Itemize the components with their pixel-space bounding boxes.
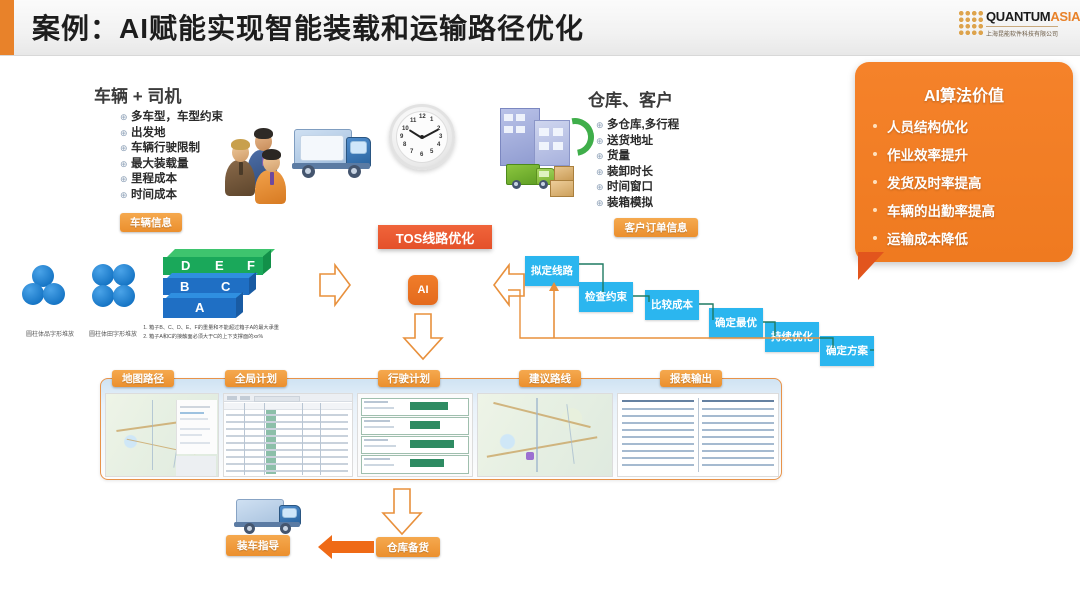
company-logo: QUANTUMASIA 上海昆能软件科技有限公司	[958, 8, 1068, 44]
vehicle-bullet-list: ⊕多车型，车型约束 ⊕出发地 ⊕车辆行驶限制 ⊕最大装载量 ⊕里程成本 ⊕时间成…	[120, 110, 223, 203]
stacking-note-1: 箱子A和C的接触面必须大于C的上下支撑面的xx%	[149, 334, 290, 341]
logo-wordmark: QUANTUMASIA	[986, 9, 1080, 24]
warehouse-illustration	[494, 100, 589, 220]
driver-avatar-group	[225, 120, 277, 192]
vehicle-bullet-5: ⊕时间成本	[120, 188, 223, 204]
header-accent-bar	[0, 0, 14, 55]
vehicle-info-tag[interactable]: 车辆信息	[120, 213, 182, 232]
ai-value-item-3: 车辆的出勤率提高	[873, 196, 1059, 224]
screenshot-suggested-route[interactable]	[477, 393, 613, 477]
screenshot-map-route[interactable]	[105, 393, 219, 477]
slide-header: 案例：AI赋能实现智能装载和运输路径优化 QUANTUMASIA 上海昆能软件科…	[0, 0, 1080, 56]
logo-accent-text: ASIA	[1050, 9, 1080, 24]
warehouse-bullet-list: ⊕多仓库,多行程 ⊕送货地址 ⊕货量 ⊕装卸时长 ⊕时间窗口 ⊕装箱模拟	[596, 118, 679, 211]
flow-connectors	[508, 250, 888, 370]
warehouse-bullet-4: ⊕时间窗口	[596, 180, 679, 196]
output-tab-0[interactable]: 地图路径	[112, 370, 174, 387]
ai-value-panel: AI算法价值 人员结构优化 作业效率提升 发货及时率提高 车辆的出勤率提高 运输…	[855, 62, 1073, 262]
page-title: 案例：AI赋能实现智能装载和运输路径优化	[32, 7, 584, 47]
logo-dot-pattern	[958, 10, 984, 36]
output-tab-3[interactable]: 建议路线	[519, 370, 581, 387]
output-tab-1[interactable]: 全局计划	[225, 370, 287, 387]
clock-icon: 12 1 2 3 4 5 6 7 8 9 10 11	[389, 104, 455, 170]
feedback-arrow	[548, 280, 562, 340]
warehouse-bullet-2: ⊕货量	[596, 149, 679, 165]
block-label-D: D	[181, 258, 190, 273]
arrow-right-to-ai	[318, 262, 352, 308]
vehicle-bullet-4: ⊕里程成本	[120, 172, 223, 188]
block-label-C: C	[221, 279, 230, 294]
warehouse-prep-tag[interactable]: 仓库备货	[376, 537, 440, 557]
output-tab-4[interactable]: 报表输出	[660, 370, 722, 387]
delivery-truck-illustration	[288, 125, 374, 187]
slide-root: 案例：AI赋能实现智能装载和运输路径优化 QUANTUMASIA 上海昆能软件科…	[0, 0, 1080, 608]
customer-order-info-tag[interactable]: 客户订单信息	[614, 218, 698, 237]
ai-value-item-list: 人员结构优化 作业效率提升 发货及时率提高 车辆的出勤率提高 运输成本降低	[873, 112, 1059, 252]
ai-value-item-4: 运输成本降低	[873, 224, 1059, 252]
stacking-note-0: 箱子B、C、D、E、F的重量和不能超过箱子A的最大承重	[149, 325, 290, 332]
logo-main-text: QUANTUM	[986, 9, 1050, 24]
stacking-notes: 箱子B、C、D、E、F的重量和不能超过箱子A的最大承重 箱子A和C的接触面必须大…	[140, 325, 290, 343]
vehicle-section-title: 车辆 + 司机	[94, 82, 181, 107]
loading-truck-illustration	[232, 495, 312, 541]
block-label-B: B	[180, 279, 189, 294]
ai-value-item-0: 人员结构优化	[873, 112, 1059, 140]
ai-value-item-2: 发货及时率提高	[873, 168, 1059, 196]
arrow-down-to-warehouse-prep	[380, 487, 424, 537]
ai-cloud-icon: AI	[408, 275, 438, 305]
screenshot-report-output[interactable]	[617, 393, 779, 477]
ai-value-panel-title: AI算法价值	[855, 82, 1073, 106]
vehicle-bullet-0: ⊕多车型，车型约束	[120, 110, 223, 126]
ai-value-item-1: 作业效率提升	[873, 140, 1059, 168]
stacked-blocks-diagram: D E F B C A	[163, 249, 278, 321]
arrow-down-to-outputs	[401, 312, 445, 362]
arrow-left-to-loading-guide	[316, 534, 376, 560]
screenshot-driving-plan[interactable]	[357, 393, 473, 477]
block-label-A: A	[195, 300, 204, 315]
screenshot-global-plan-table[interactable]	[223, 393, 353, 477]
block-label-E: E	[215, 258, 224, 273]
logo-subtitle: 上海昆能软件科技有限公司	[986, 26, 1058, 38]
vehicle-bullet-3: ⊕最大装载量	[120, 157, 223, 173]
warehouse-section-title: 仓库、客户	[588, 86, 673, 111]
block-label-F: F	[247, 258, 255, 273]
vehicle-bullet-2: ⊕车辆行驶限制	[120, 141, 223, 157]
tos-optimization-banner: TOS线路优化	[378, 225, 492, 249]
warehouse-bullet-3: ⊕装卸时长	[596, 165, 679, 181]
vehicle-bullet-1: ⊕出发地	[120, 126, 223, 142]
warehouse-bullet-5: ⊕装箱模拟	[596, 196, 679, 212]
warehouse-bullet-1: ⊕送货地址	[596, 134, 679, 150]
warehouse-bullet-0: ⊕多仓库,多行程	[596, 118, 679, 134]
output-tab-2[interactable]: 行驶计划	[378, 370, 440, 387]
output-screenshot-panel	[100, 378, 782, 480]
